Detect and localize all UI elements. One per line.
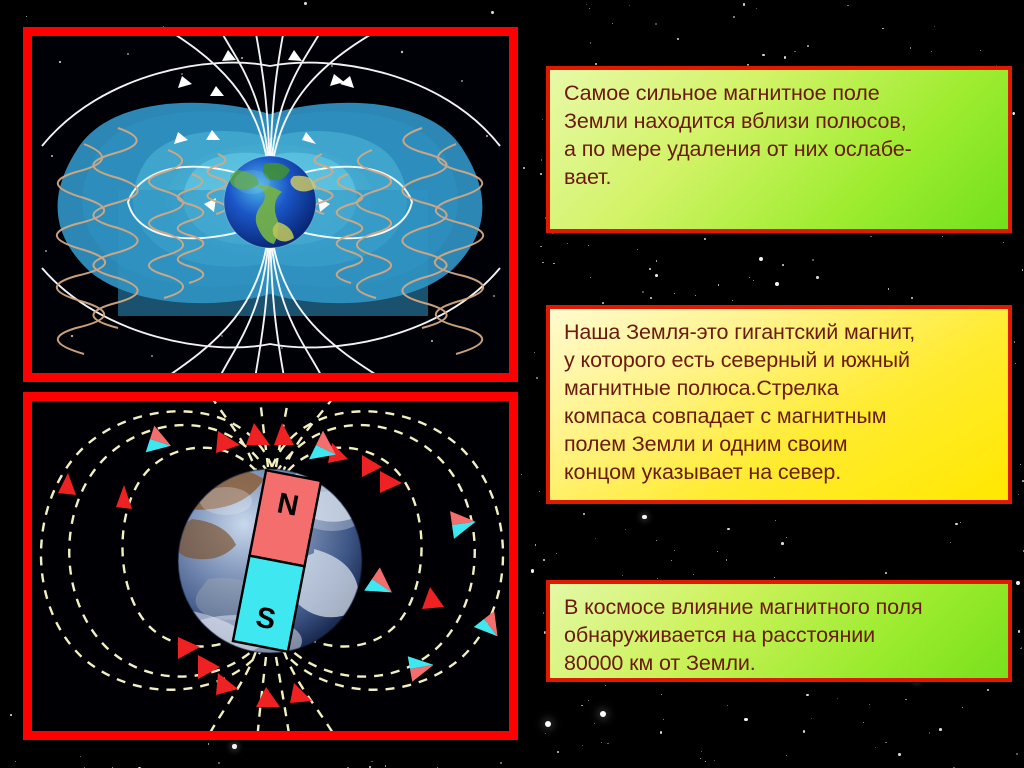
star <box>905 699 907 701</box>
star <box>1003 242 1004 243</box>
star <box>543 559 545 561</box>
star <box>847 5 848 6</box>
star <box>540 173 543 176</box>
star <box>816 276 819 279</box>
star <box>794 51 796 53</box>
star <box>1014 341 1015 342</box>
star <box>786 755 787 756</box>
star <box>602 302 604 304</box>
star <box>786 537 788 539</box>
star <box>588 245 589 246</box>
star <box>1020 648 1022 650</box>
star <box>660 731 663 734</box>
star <box>1018 494 1019 495</box>
star <box>939 728 942 731</box>
star <box>1018 630 1021 633</box>
star <box>934 26 935 27</box>
star <box>369 766 371 768</box>
star <box>26 16 27 17</box>
star <box>656 540 657 541</box>
star <box>942 236 943 237</box>
star <box>674 293 676 295</box>
star <box>556 553 557 554</box>
star <box>756 8 757 9</box>
star <box>870 236 872 238</box>
star <box>1020 464 1021 465</box>
star <box>553 263 555 265</box>
star <box>371 761 372 762</box>
star <box>521 474 522 475</box>
star <box>541 159 543 161</box>
star <box>642 515 647 520</box>
star <box>812 259 814 261</box>
star <box>657 578 658 579</box>
star <box>875 747 877 749</box>
star <box>803 730 806 733</box>
star <box>987 689 989 691</box>
star <box>744 718 747 721</box>
star <box>774 577 775 578</box>
panel-magnetosphere <box>23 27 518 382</box>
star <box>885 742 887 744</box>
star <box>583 513 585 515</box>
star <box>650 297 653 300</box>
star <box>929 732 930 733</box>
star <box>677 38 679 40</box>
star <box>762 54 765 57</box>
star <box>535 544 536 545</box>
star <box>523 167 525 169</box>
star <box>112 767 113 768</box>
star <box>727 705 728 706</box>
star <box>910 47 912 49</box>
star <box>589 8 590 9</box>
star <box>655 23 657 25</box>
star <box>727 528 729 530</box>
star <box>637 249 638 250</box>
star <box>671 560 672 561</box>
star <box>674 550 675 551</box>
star <box>594 723 595 724</box>
textbox-giant-magnet: Наша Земля-это гигантский магнит, у кото… <box>546 305 1012 504</box>
star <box>625 529 626 530</box>
star <box>837 698 838 699</box>
star <box>588 700 589 701</box>
star <box>950 542 952 544</box>
star <box>718 284 720 286</box>
star <box>1022 269 1023 270</box>
star <box>1016 581 1020 585</box>
star <box>885 572 887 574</box>
star <box>962 707 963 708</box>
earth-globe <box>224 156 316 248</box>
star <box>557 751 560 754</box>
star <box>80 756 81 757</box>
star <box>536 377 538 379</box>
textbox-space-influence: В космосе влияние магнитного поля обнару… <box>546 580 1012 682</box>
star <box>612 23 613 24</box>
star <box>661 694 662 695</box>
star <box>714 760 716 762</box>
star <box>649 268 652 271</box>
star <box>15 761 16 762</box>
bar-magnet-svg: N S <box>32 401 509 731</box>
star <box>775 520 776 521</box>
star <box>304 2 307 5</box>
star <box>586 4 587 5</box>
star <box>629 5 630 6</box>
star <box>542 262 543 263</box>
star <box>888 288 890 290</box>
textbox-strongest-field: Самое сильное магнитное поле Земли наход… <box>546 66 1012 233</box>
star <box>931 51 932 52</box>
bar-magnet-illustration: N S <box>32 401 509 731</box>
star <box>218 762 220 764</box>
star <box>693 574 694 575</box>
star <box>759 257 763 261</box>
star <box>655 274 659 278</box>
star <box>545 721 551 727</box>
star <box>733 16 735 18</box>
star <box>605 685 607 687</box>
star <box>898 753 901 756</box>
star <box>545 733 546 734</box>
star <box>749 277 750 278</box>
star <box>531 569 534 572</box>
star <box>601 742 602 743</box>
star <box>704 238 706 240</box>
star <box>705 761 706 762</box>
star <box>590 42 592 44</box>
star <box>581 705 583 707</box>
star <box>543 612 545 614</box>
star <box>600 711 606 717</box>
star <box>784 56 787 59</box>
star <box>775 282 779 286</box>
star <box>539 491 540 492</box>
star <box>567 243 568 244</box>
star <box>385 765 387 767</box>
star <box>1016 753 1018 755</box>
star <box>781 542 784 545</box>
star <box>960 522 961 523</box>
star <box>1021 647 1022 648</box>
magnetosphere-illustration <box>32 36 509 373</box>
star <box>491 11 494 14</box>
star <box>882 28 884 30</box>
star <box>701 751 702 752</box>
star <box>863 722 864 723</box>
star <box>811 718 812 719</box>
star <box>232 744 237 749</box>
star <box>782 264 784 266</box>
star <box>663 719 664 720</box>
star <box>656 260 657 261</box>
star <box>595 538 597 540</box>
star <box>534 352 535 353</box>
star <box>743 3 745 5</box>
star <box>717 551 718 552</box>
star <box>955 523 958 526</box>
star <box>807 45 809 47</box>
star <box>582 745 583 746</box>
star <box>642 291 644 293</box>
star <box>726 559 728 561</box>
panel-bar-magnet: N S <box>23 392 518 740</box>
star <box>542 119 543 120</box>
star <box>1015 363 1016 364</box>
star <box>869 704 870 705</box>
star <box>10 714 12 716</box>
star <box>806 694 809 697</box>
magnetosphere-svg <box>32 36 509 373</box>
star <box>911 297 913 299</box>
star <box>732 300 733 301</box>
star <box>980 50 981 51</box>
star <box>622 575 623 576</box>
star <box>753 280 754 281</box>
star <box>607 743 608 744</box>
star <box>1012 112 1015 115</box>
star <box>700 758 701 759</box>
star <box>590 277 591 278</box>
star <box>695 295 696 296</box>
star <box>500 762 502 764</box>
star <box>540 246 542 248</box>
star <box>1022 480 1024 482</box>
star <box>208 743 209 744</box>
